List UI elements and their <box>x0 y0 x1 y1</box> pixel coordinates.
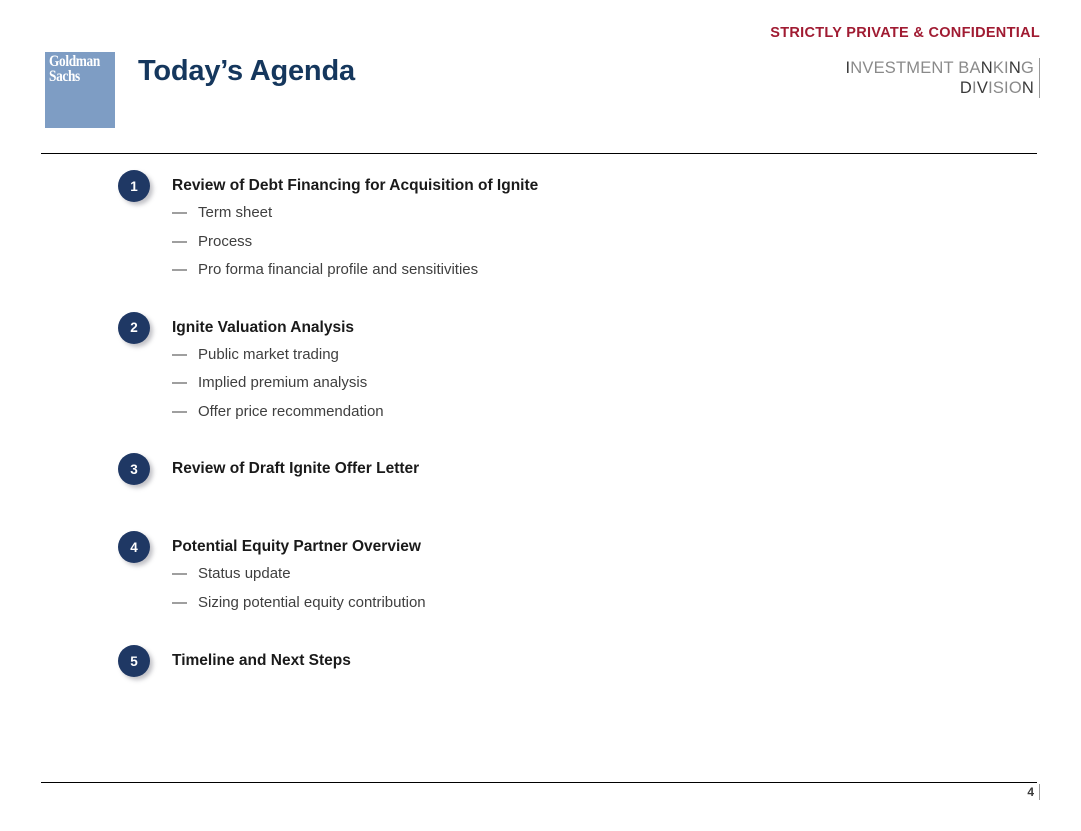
dash-bullet-icon: — <box>172 566 198 581</box>
list-item-label: Public market trading <box>198 346 339 363</box>
list-item-label: Pro forma financial profile and sensitiv… <box>198 261 478 278</box>
agenda-section-header-5[interactable]: 5 Timeline and Next Steps <box>118 645 1018 679</box>
dash-bullet-icon: — <box>172 595 198 610</box>
section-number-badge-2: 2 <box>118 312 150 344</box>
slide-canvas: STRICTLY PRIVATE & CONFIDENTIAL Goldman … <box>0 0 1081 831</box>
header-divider <box>41 153 1037 154</box>
section-spacer <box>118 290 1018 312</box>
division-line-2: DIVISION <box>845 78 1034 98</box>
confidentiality-label: STRICTLY PRIVATE & CONFIDENTIAL <box>770 25 1040 41</box>
dash-bullet-icon: — <box>172 404 198 419</box>
section-title-3: Review of Draft Ignite Offer Letter <box>172 453 419 485</box>
division-line-1: INVESTMENT BANKING <box>845 58 1034 78</box>
agenda-section-header-1[interactable]: 1 Review of Debt Financing for Acquisiti… <box>118 170 1018 204</box>
list-item[interactable]: — Public market trading <box>118 346 1018 375</box>
dash-bullet-icon: — <box>172 234 198 249</box>
section-number-badge-1: 1 <box>118 170 150 202</box>
section-number-badge-4: 4 <box>118 531 150 563</box>
dash-bullet-icon: — <box>172 347 198 362</box>
section-title-5: Timeline and Next Steps <box>172 645 351 677</box>
dash-bullet-icon: — <box>172 262 198 277</box>
sub-item-list-2: — Public market trading — Implied premiu… <box>118 346 1018 432</box>
list-item[interactable]: — Offer price recommendation <box>118 403 1018 432</box>
section-spacer <box>118 622 1018 645</box>
section-number-badge-3: 3 <box>118 453 150 485</box>
page-number: 4 <box>1020 784 1040 800</box>
list-item-label: Implied premium analysis <box>198 374 367 391</box>
section-title-1: Review of Debt Financing for Acquisition… <box>172 170 538 202</box>
footer-divider <box>41 782 1037 783</box>
list-item-label: Term sheet <box>198 204 272 221</box>
sub-item-list-1: — Term sheet — Process — Pro forma finan… <box>118 204 1018 290</box>
list-item-label: Status update <box>198 565 291 582</box>
page-title: Today’s Agenda <box>138 55 355 88</box>
list-item-label: Sizing potential equity contribution <box>198 594 426 611</box>
agenda-section-header-2[interactable]: 2 Ignite Valuation Analysis <box>118 312 1018 346</box>
dash-bullet-icon: — <box>172 205 198 220</box>
agenda-section-header-4[interactable]: 4 Potential Equity Partner Overview <box>118 531 1018 565</box>
agenda-section-5: 5 Timeline and Next Steps <box>118 645 1018 679</box>
agenda-section-header-3[interactable]: 3 Review of Draft Ignite Offer Letter <box>118 453 1018 487</box>
list-item[interactable]: — Pro forma financial profile and sensit… <box>118 261 1018 290</box>
section-spacer <box>118 487 1018 531</box>
list-item-label: Offer price recommendation <box>198 403 384 420</box>
list-item[interactable]: — Sizing potential equity contribution <box>118 594 1018 623</box>
section-spacer <box>118 431 1018 453</box>
section-title-2: Ignite Valuation Analysis <box>172 312 354 344</box>
list-item[interactable]: — Status update <box>118 565 1018 594</box>
goldman-sachs-logo: Goldman Sachs <box>45 52 115 128</box>
list-item[interactable]: — Implied premium analysis <box>118 374 1018 403</box>
dash-bullet-icon: — <box>172 375 198 390</box>
list-item[interactable]: — Term sheet <box>118 204 1018 233</box>
list-item[interactable]: — Process <box>118 233 1018 262</box>
logo-wordmark: Goldman Sachs <box>49 55 100 84</box>
list-item-label: Process <box>198 233 252 250</box>
sub-item-list-4: — Status update — Sizing potential equit… <box>118 565 1018 622</box>
section-title-4: Potential Equity Partner Overview <box>172 531 421 563</box>
agenda-section-2: 2 Ignite Valuation Analysis — Public mar… <box>118 312 1018 432</box>
division-label: INVESTMENT BANKING DIVISION <box>845 58 1040 98</box>
agenda-section-4: 4 Potential Equity Partner Overview — St… <box>118 531 1018 622</box>
section-number-badge-5: 5 <box>118 645 150 677</box>
agenda-section-1: 1 Review of Debt Financing for Acquisiti… <box>118 170 1018 290</box>
agenda-list: 1 Review of Debt Financing for Acquisiti… <box>118 170 1018 679</box>
agenda-section-3: 3 Review of Draft Ignite Offer Letter <box>118 453 1018 487</box>
